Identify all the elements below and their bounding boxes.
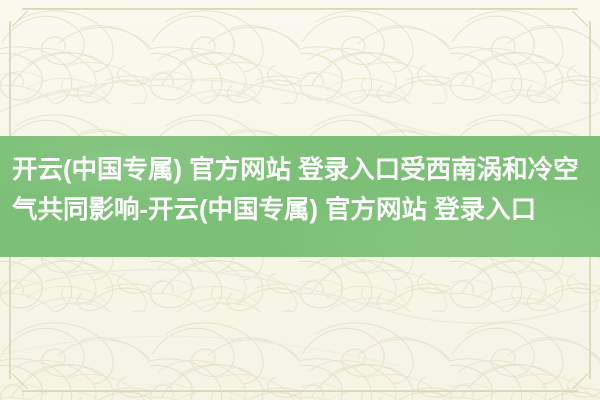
banner-image: 开云(中国专属) 官方网站 登录入口受西南涡和冷空气共同影响-开云(中国专属) … [0,0,600,400]
banner-headline: 开云(中国专属) 官方网站 登录入口受西南涡和冷空气共同影响-开云(中国专属) … [0,150,600,230]
